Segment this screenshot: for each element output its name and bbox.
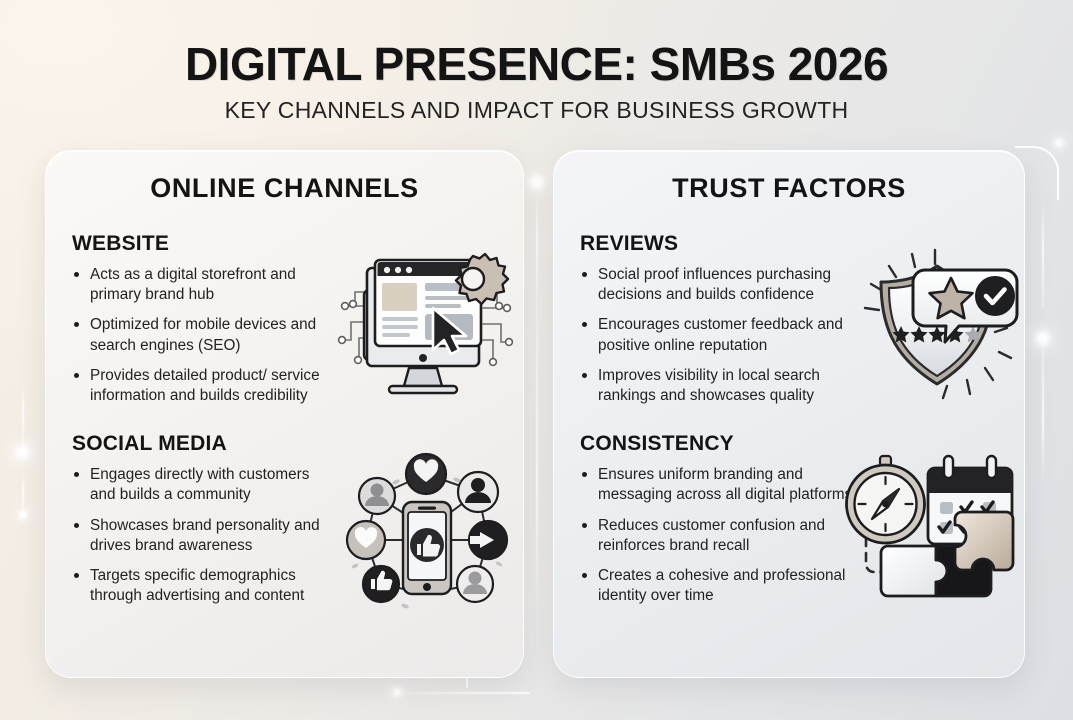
glow-trail-right-upper	[1042, 200, 1044, 308]
shield-star-rating-icon	[855, 244, 1020, 404]
glow-trail-right-lower	[1042, 344, 1044, 484]
glow-trail-left-lower	[22, 470, 24, 515]
glow-dot-left-lower	[20, 512, 26, 518]
section-website: WEBSITE Acts as a digital storefront and…	[46, 232, 523, 406]
glow-dot-top-right-corner	[1056, 140, 1062, 146]
bullet-list-website: Acts as a digital storefront and primary…	[72, 265, 334, 406]
bullet-list-reviews: Social proof influences purchasing decis…	[580, 265, 860, 406]
glow-dot-center	[532, 178, 541, 187]
page-title: DIGITAL PRESENCE: SMBs 2026	[0, 40, 1073, 88]
glow-trail-center	[536, 190, 538, 300]
glow-trail-left-upper	[22, 380, 24, 450]
list-item: Showcases brand personality and drives b…	[72, 516, 334, 556]
section-social-media: SOCIAL MEDIA Engages directly with custo…	[46, 432, 523, 606]
panel-online-channels: ONLINE CHANNELS WEBSITE Acts as a digita…	[45, 150, 524, 678]
list-item: Reduces customer confusion and reinforce…	[580, 516, 860, 556]
desktop-monitor-gear-icon	[333, 250, 513, 410]
list-item: Encourages customer feedback and positiv…	[580, 315, 860, 355]
list-item: Improves visibility in local search rank…	[580, 366, 860, 406]
list-item: Targets specific demographics through ad…	[72, 566, 334, 606]
smartphone-social-network-icon	[333, 448, 519, 616]
glow-trail-center-lower	[536, 300, 538, 630]
panel-title-trust-factors: TRUST FACTORS	[554, 173, 1024, 204]
list-item: Creates a cohesive and professional iden…	[580, 566, 860, 606]
bullet-list-social-media: Engages directly with customers and buil…	[72, 465, 334, 606]
list-item: Social proof influences purchasing decis…	[580, 265, 860, 305]
bullet-list-consistency: Ensures uniform branding and messaging a…	[580, 465, 860, 606]
list-item: Acts as a digital storefront and primary…	[72, 265, 334, 305]
glow-trail-bottom	[400, 692, 530, 694]
list-item: Ensures uniform branding and messaging a…	[580, 465, 860, 505]
glow-dot-right	[1038, 334, 1047, 343]
section-reviews: REVIEWS Social proof influences purchasi…	[554, 232, 1024, 406]
list-item: Engages directly with customers and buil…	[72, 465, 334, 505]
list-item: Provides detailed product/ service infor…	[72, 366, 334, 406]
infographic-header: DIGITAL PRESENCE: SMBs 2026 KEY CHANNELS…	[0, 0, 1073, 124]
compass-calendar-puzzle-icon	[840, 450, 1022, 610]
list-item: Optimized for mobile devices and search …	[72, 315, 334, 355]
panel-trust-factors: TRUST FACTORS REVIEWS Social proof influ…	[553, 150, 1025, 678]
glow-dot-left-upper	[18, 448, 27, 457]
section-consistency: CONSISTENCY Ensures uniform branding and…	[554, 432, 1024, 606]
glow-dot-bottom	[394, 689, 400, 695]
panel-title-online-channels: ONLINE CHANNELS	[46, 173, 523, 204]
page-subtitle: KEY CHANNELS AND IMPACT FOR BUSINESS GRO…	[0, 97, 1073, 124]
